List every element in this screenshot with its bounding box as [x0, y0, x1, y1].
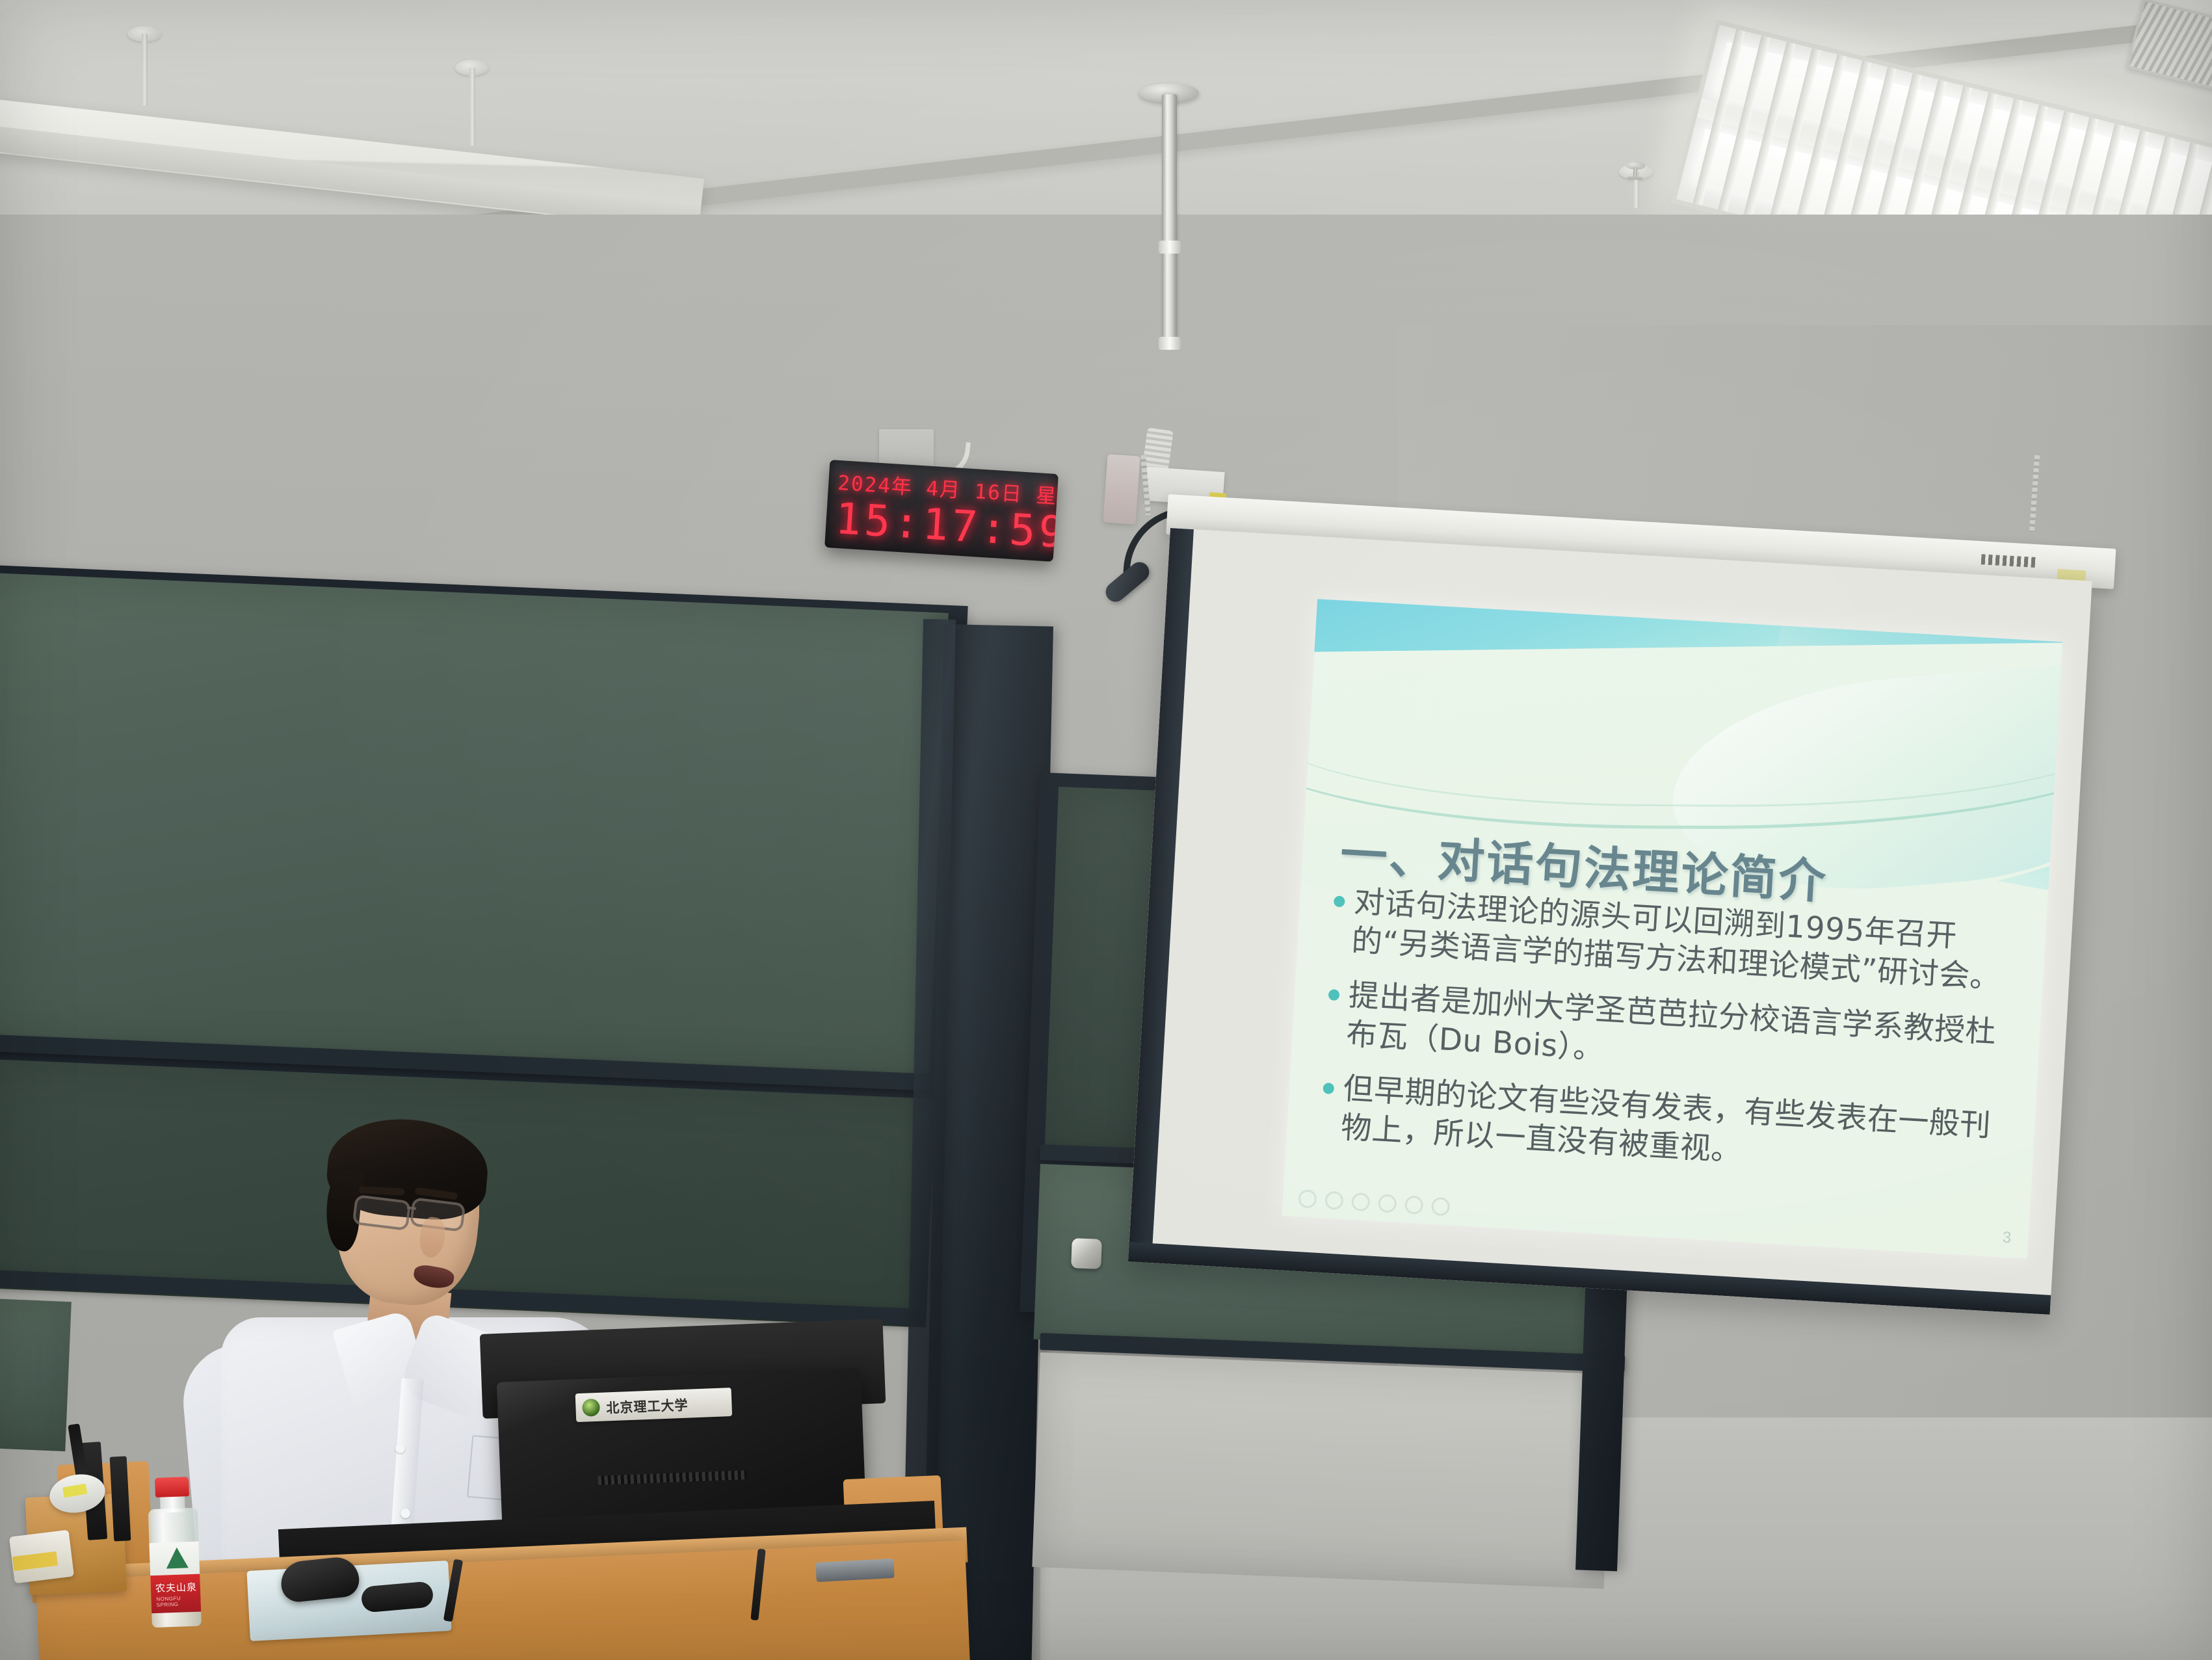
monitor-vent [598, 1470, 748, 1485]
presenter-toolbar[interactable] [1298, 1189, 1450, 1216]
sprinkler-head-mid [1625, 161, 1645, 183]
lock-icon[interactable] [1324, 1191, 1344, 1210]
bottle-brand-subtext: NONGFU SPRING [156, 1595, 201, 1608]
university-badge-text: 北京理工大学 [606, 1393, 689, 1416]
pendant-rod-left [142, 34, 148, 105]
water-bottle[interactable]: 农夫山泉 NONGFU SPRING [144, 1477, 205, 1628]
slide-wave-arc-2 [1282, 616, 2062, 809]
pendant-rod-right [469, 68, 475, 146]
ceiling-mount-pole [1162, 94, 1177, 348]
gear-icon[interactable] [1378, 1194, 1397, 1213]
shirt-button [401, 1508, 410, 1518]
university-badge: 北京理工大学 [575, 1388, 733, 1422]
bottle-neck [160, 1495, 185, 1512]
bottle-cap [155, 1477, 189, 1497]
shirt-button [395, 1443, 405, 1453]
blackboard-panel-far-left [0, 1298, 72, 1451]
home-icon[interactable] [1298, 1189, 1317, 1209]
pen-icon[interactable] [1351, 1192, 1371, 1212]
bullet-dot-icon [1334, 895, 1345, 907]
led-wall-clock: 2024年 4月 16日 星期2 15:17:59 [824, 460, 1059, 562]
blackboard-panel-upper-left [0, 572, 949, 1081]
bottle-brand-text: 农夫山泉 [155, 1580, 198, 1595]
desk-tray-item[interactable] [815, 1559, 894, 1582]
minus-icon[interactable] [1431, 1197, 1451, 1217]
slide-bullet-text: 但早期的论文有些没有发表，有些发表在一般刊物上，所以一直没有被重视。 [1340, 1070, 2020, 1187]
remote-label [62, 1484, 87, 1498]
mountain-logo-icon [166, 1547, 189, 1568]
wall-speaker [1103, 454, 1140, 524]
pole-collar-upper [1159, 241, 1181, 254]
pole-collar-lower [1159, 337, 1181, 350]
whiteboard-panel-lower-right [1032, 1352, 1612, 1589]
bullet-dot-icon [1323, 1083, 1334, 1094]
projected-slide: 一、对话句法理论简介 对话句法理论的源头可以回溯到1995年召开的“另类语言学的… [1282, 599, 2062, 1259]
bottle-label-lower: 农夫山泉 NONGFU SPRING [150, 1574, 201, 1614]
bullet-dot-icon [1328, 989, 1340, 1001]
projection-screen: 一、对话句法理论简介 对话句法理论的源头可以回溯到1995年召开的“另类语言学的… [1128, 528, 2092, 1315]
slide-page-number: 3 [2002, 1229, 2012, 1248]
bit-emblem-icon [582, 1398, 600, 1416]
blackboard-latch-knob[interactable] [1071, 1238, 1102, 1269]
clock-time-display: 15:17:59 [834, 497, 1047, 554]
search-icon[interactable] [1404, 1196, 1424, 1215]
slide-bullet-list: 对话句法理论的源头可以回溯到1995年召开的“另类语言学的描写方法和理论模式”研… [1319, 881, 2031, 1202]
classroom-scene: 2024年 4月 16日 星期2 15:17:59 一、对话句法理论简介 [0, 0, 2212, 1660]
roller-brand-logo-icon [1981, 554, 2038, 568]
